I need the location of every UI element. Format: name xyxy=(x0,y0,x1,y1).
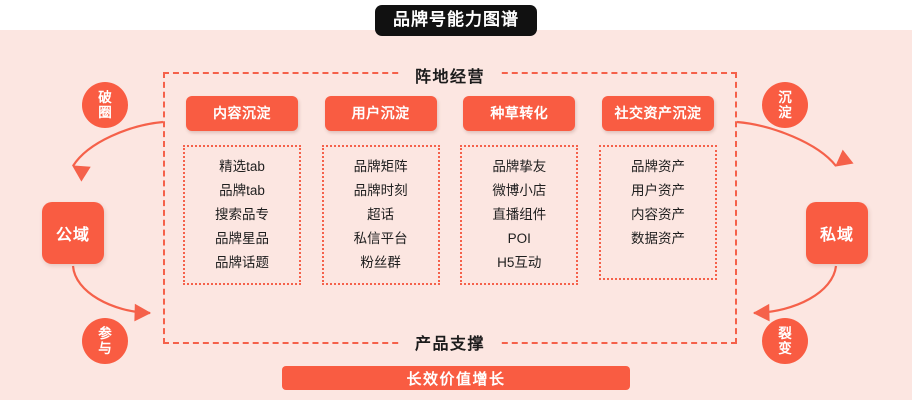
list-item[interactable]: 数据资产 xyxy=(631,228,685,250)
list-item[interactable]: 超话 xyxy=(367,204,394,226)
column-header-social-assets[interactable]: 社交资产沉淀 xyxy=(602,96,714,131)
circle-fission-line2: 变 xyxy=(778,341,792,356)
list-item[interactable]: 品牌tab xyxy=(219,180,265,202)
list-item[interactable]: 用户资产 xyxy=(631,180,685,202)
capability-column-social-assets: 社交资产沉淀 品牌资产 用户资产 内容资产 数据资产 xyxy=(596,96,720,344)
arrow-settle xyxy=(737,122,836,166)
list-item[interactable]: 粉丝群 xyxy=(360,252,401,274)
circle-participate-line2: 与 xyxy=(98,341,112,356)
circle-participate-line1: 参 xyxy=(98,326,112,341)
list-item[interactable]: 品牌时刻 xyxy=(354,180,408,202)
list-item[interactable]: 搜索品专 xyxy=(215,204,269,226)
circle-breakout-line1: 破 xyxy=(98,90,112,105)
column-items-social-assets: 品牌资产 用户资产 内容资产 数据资产 xyxy=(599,145,717,280)
circle-fission[interactable]: 裂 变 xyxy=(762,318,808,364)
list-item[interactable]: 内容资产 xyxy=(631,204,685,226)
arrow-fission xyxy=(754,266,836,313)
circle-fission-line1: 裂 xyxy=(778,326,792,341)
column-items-content: 精选tab 品牌tab 搜索品专 品牌星品 品牌话题 xyxy=(183,145,301,285)
list-item[interactable]: 微博小店 xyxy=(492,180,546,202)
circle-participate[interactable]: 参 与 xyxy=(82,318,128,364)
list-item[interactable]: 品牌挚友 xyxy=(492,156,546,178)
column-items-conversion: 品牌挚友 微博小店 直播组件 POI H5互动 xyxy=(460,145,578,285)
column-header-content[interactable]: 内容沉淀 xyxy=(186,96,298,131)
circle-breakout[interactable]: 破 圈 xyxy=(82,82,128,128)
column-header-conversion[interactable]: 种草转化 xyxy=(463,96,575,131)
list-item[interactable]: H5互动 xyxy=(497,252,541,274)
circle-settle-line2: 淀 xyxy=(778,105,792,120)
arrow-breakout xyxy=(73,122,163,166)
list-item[interactable]: 品牌话题 xyxy=(215,252,269,274)
circle-breakout-line2: 圈 xyxy=(98,105,112,120)
domain-box-private[interactable]: 私域 xyxy=(806,202,868,264)
circle-settle[interactable]: 沉 淀 xyxy=(762,82,808,128)
diagram-stage: 阵地经营 产品支撑 内容沉淀 精选tab 品牌tab 搜索品专 品牌星品 品牌话… xyxy=(0,30,912,400)
capability-column-user: 用户沉淀 品牌矩阵 品牌时刻 超话 私信平台 粉丝群 xyxy=(319,96,443,344)
list-item[interactable]: 品牌资产 xyxy=(631,156,685,178)
list-item[interactable]: 品牌矩阵 xyxy=(354,156,408,178)
capability-column-content: 内容沉淀 精选tab 品牌tab 搜索品专 品牌星品 品牌话题 xyxy=(180,96,304,344)
column-items-user: 品牌矩阵 品牌时刻 超话 私信平台 粉丝群 xyxy=(322,145,440,285)
circle-settle-line1: 沉 xyxy=(778,90,792,105)
growth-bar: 长效价值增长 xyxy=(282,366,630,390)
list-item[interactable]: 直播组件 xyxy=(492,204,546,226)
list-item[interactable]: 私信平台 xyxy=(354,228,408,250)
list-item[interactable]: 精选tab xyxy=(219,156,265,178)
column-header-user[interactable]: 用户沉淀 xyxy=(325,96,437,131)
list-item[interactable]: POI xyxy=(508,228,531,250)
arrow-participate xyxy=(73,266,150,313)
capability-columns: 内容沉淀 精选tab 品牌tab 搜索品专 品牌星品 品牌话题 用户沉淀 品牌矩… xyxy=(163,72,737,344)
domain-box-public[interactable]: 公域 xyxy=(42,202,104,264)
capability-column-conversion: 种草转化 品牌挚友 微博小店 直播组件 POI H5互动 xyxy=(457,96,581,344)
list-item[interactable]: 品牌星品 xyxy=(215,228,269,250)
page-title: 品牌号能力图谱 xyxy=(375,5,537,36)
